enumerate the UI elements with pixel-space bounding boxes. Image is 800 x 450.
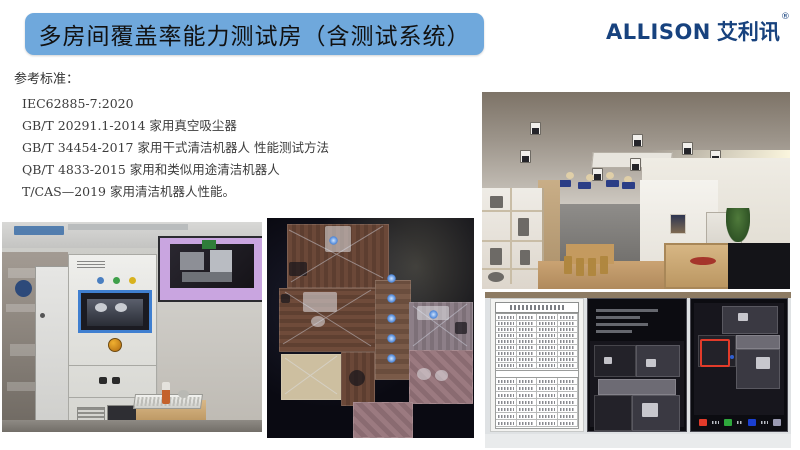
mouse-icon[interactable] [178, 390, 189, 398]
test-device [115, 303, 127, 312]
legend-swatch-blue [748, 419, 756, 426]
red-coverage-path [700, 339, 730, 367]
legend-swatch-green [724, 419, 732, 426]
chair [564, 256, 572, 274]
indicator-light-yellow [129, 277, 136, 284]
lab-ceiling-rail [68, 224, 188, 230]
ceiling-camera-icon [632, 134, 643, 147]
cabinet-seam [69, 365, 156, 366]
panel-text-lines [596, 309, 666, 337]
reference-item: GB/T 34454-2017 家用干式清洁机器人 性能测试方法 [22, 137, 444, 159]
drawer-handle[interactable] [99, 377, 123, 384]
emergency-stop-button[interactable] [108, 338, 122, 352]
indicator-light-blue [97, 277, 104, 284]
test-device [95, 303, 107, 312]
page-title: 多房间覆盖率能力测试房（含测试系统） [39, 17, 471, 51]
ceiling-camera-icon [592, 168, 603, 181]
blue-sign [622, 182, 635, 189]
monitor-screen [170, 244, 254, 288]
indicator-light-green [113, 277, 120, 284]
chair [576, 258, 584, 276]
pendant-lamp [586, 174, 594, 181]
report-trajectory-panel [690, 298, 788, 432]
reference-standards-block: 参考标准： IEC62885-7:2020 GB/T 20291.1-2014 … [14, 68, 444, 203]
legend-label [737, 421, 744, 424]
report-planview-panel [587, 298, 687, 432]
report-results-table [495, 377, 579, 429]
television [728, 243, 790, 289]
reference-item: QB/T 4833-2015 家用和类似用途清洁机器人 [22, 159, 444, 181]
trajectory-map [694, 303, 784, 415]
reference-standards-heading: 参考标准： [14, 68, 444, 87]
allison-logo: ALLISON 艾利讯 ® [606, 15, 790, 43]
lab-blue-beam [14, 226, 64, 235]
robot-position-dot [730, 355, 734, 359]
ceiling-camera-icon [682, 142, 693, 155]
slide-canvas: 多房间覆盖率能力测试房（含测试系统） ALLISON 艾利讯 ® 参考标准： I… [0, 0, 800, 450]
screen-bottom-edge [485, 434, 791, 448]
blue-sign [606, 180, 619, 187]
ceiling-camera-icon [530, 122, 541, 135]
ceiling-camera-icon [520, 150, 531, 163]
cabinet-label [77, 261, 105, 268]
pendant-lamp [606, 172, 614, 179]
legend-swatch-red [699, 419, 707, 426]
plant-icon [726, 208, 750, 242]
logo-text-en: ALLISON [606, 22, 711, 43]
chair [600, 256, 608, 274]
test-room-interior-photo [482, 92, 790, 289]
legend-label [761, 421, 768, 424]
legend-label [712, 421, 719, 424]
report-parameter-table [495, 313, 579, 371]
lab-open-door [35, 266, 71, 426]
lab-floor [2, 420, 262, 432]
logo-text-cn: 艾利讯 [717, 22, 780, 43]
legend-swatch-gray [773, 419, 781, 426]
overhead-floorplan-photo [267, 218, 474, 438]
test-cabinet-photo [2, 222, 262, 432]
reference-item: IEC62885-7:2020 [22, 93, 444, 115]
chair [588, 258, 596, 276]
report-heading [495, 302, 579, 313]
slide-title-banner: 多房间覆盖率能力测试房（含测试系统） [25, 13, 484, 55]
window-interior [87, 299, 143, 326]
ceiling-camera-icon [630, 158, 641, 171]
map-legend [699, 418, 781, 427]
pendant-lamp [566, 172, 574, 179]
bottle [162, 382, 170, 404]
exit-sign-icon [202, 240, 216, 249]
display-shelving [482, 188, 544, 289]
report-table-panel [490, 298, 584, 432]
wall-artwork [670, 214, 686, 234]
lab-fan-icon [15, 280, 32, 297]
coverage-map [590, 341, 684, 427]
cabinet-viewing-window [78, 290, 152, 333]
registered-trademark-icon: ® [781, 13, 790, 22]
blue-sign [578, 182, 591, 189]
coverage-trace-overlay [267, 218, 474, 438]
door-knob [40, 313, 45, 318]
reference-item: T/CAS—2019 家用清洁机器人性能。 [22, 181, 444, 203]
reference-item: GB/T 20291.1-2014 家用真空吸尘器 [22, 115, 444, 137]
test-report-screen-photo [485, 292, 791, 448]
